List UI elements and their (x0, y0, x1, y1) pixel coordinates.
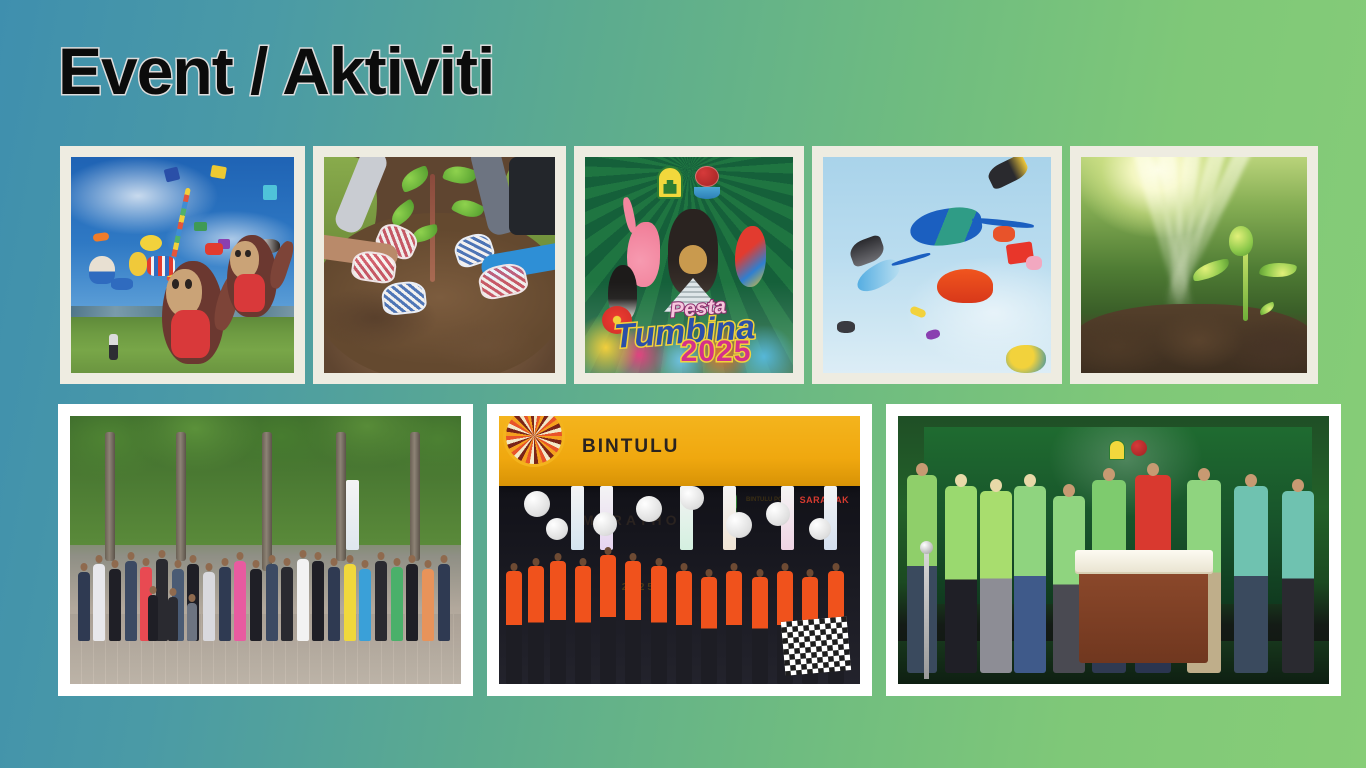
balloon (766, 502, 790, 526)
squirrel-mascot-back (227, 235, 277, 317)
seedling-leaf-right (1259, 259, 1297, 281)
runner (676, 571, 692, 684)
dragon-kite-large (907, 204, 983, 250)
person (93, 564, 105, 641)
person (312, 561, 324, 641)
crowd-group (70, 513, 461, 642)
dinosaur-kite (937, 269, 993, 303)
box-kite-5 (194, 222, 207, 231)
kite-festival-photo[interactable] (60, 146, 305, 384)
person (375, 561, 387, 641)
box-kite-4 (93, 232, 110, 242)
yellow-figure-kite (129, 252, 147, 276)
small-dark-kite (837, 321, 855, 333)
person (187, 603, 197, 642)
runner (701, 577, 717, 684)
runner (506, 571, 522, 684)
kite-festival-image (71, 157, 294, 373)
yellow-ring-kite (1006, 345, 1046, 373)
park-crowd-photo[interactable] (58, 404, 473, 696)
person (328, 567, 340, 642)
box-kite-2 (211, 164, 228, 178)
tree-planting-image (324, 157, 555, 373)
toucan-kite-top (985, 157, 1031, 191)
backdrop-logos (1109, 440, 1147, 460)
runner (528, 566, 544, 684)
person (250, 569, 262, 641)
smiley-kite (140, 235, 162, 251)
runner (550, 561, 566, 684)
person (109, 569, 121, 641)
person (168, 597, 178, 641)
person (281, 567, 293, 642)
person (359, 569, 371, 641)
person (297, 559, 309, 641)
box-kite-1 (163, 166, 180, 182)
cake-cutting-photo[interactable] (886, 404, 1341, 696)
person (1014, 486, 1046, 674)
yellow-tube-kite (909, 305, 927, 318)
person (219, 567, 231, 642)
striped-kite (147, 256, 175, 276)
sarawak-globe-icon (1131, 440, 1147, 456)
slide-root: Event / Aktiviti (0, 0, 1366, 768)
person (1234, 486, 1268, 674)
side-banner-6 (824, 486, 837, 550)
seedling-image (1081, 157, 1307, 373)
gallery-bottom-row: BINTULU MARATHON 2025 BINTULU PORT SARAW… (58, 404, 1342, 696)
person (344, 564, 356, 641)
balloon (524, 491, 550, 517)
person (234, 561, 246, 641)
balloon (546, 518, 568, 540)
box-kite-7 (205, 243, 223, 255)
page-title: Event / Aktiviti (58, 36, 494, 107)
balloon (680, 486, 704, 510)
checkered-flag (781, 617, 851, 677)
dragon-kites-image (823, 157, 1051, 373)
squirrel-mascot-front (162, 261, 224, 365)
seedling-photo[interactable] (1070, 146, 1318, 384)
stanchion-post (924, 550, 929, 679)
person (945, 486, 977, 674)
person (78, 572, 90, 641)
person (907, 475, 937, 673)
runner (625, 561, 641, 684)
bintulu-marathon-photo[interactable]: BINTULU MARATHON 2025 BINTULU PORT SARAW… (487, 404, 872, 696)
person-walking (109, 334, 118, 360)
person (125, 561, 137, 641)
ceremonial-cake (1075, 550, 1213, 574)
cake-table (1079, 561, 1208, 663)
sarawak-globe-logo (693, 166, 721, 200)
gallery-top-row: Pesta Tumbina 2025 (60, 146, 1340, 384)
person (422, 569, 434, 641)
pesta-tumbina-poster[interactable]: Pesta Tumbina 2025 (574, 146, 804, 384)
seedling-stem (1243, 248, 1248, 321)
bintulu-council-logo (657, 166, 683, 199)
person (391, 567, 403, 642)
council-crest-icon (1109, 440, 1125, 460)
poster-year: 2025 (681, 335, 752, 369)
tree-planting-photo[interactable] (313, 146, 566, 384)
runner (651, 566, 667, 684)
person (266, 564, 278, 641)
marathon-title: BINTULU (582, 437, 679, 456)
runner (575, 566, 591, 684)
seedling-leaf-top (1229, 226, 1253, 256)
person (438, 564, 450, 641)
soil-mound (1081, 304, 1307, 373)
person (1282, 491, 1314, 673)
box-kite-3 (263, 185, 277, 200)
side-banner-1 (571, 486, 584, 550)
macaw-graphic (735, 226, 766, 286)
poster-logos (657, 166, 721, 200)
blue-kite-low (111, 278, 133, 290)
runner (726, 571, 742, 684)
glove-blue-left (380, 280, 427, 316)
pesta-tumbina-image: Pesta Tumbina 2025 (585, 157, 793, 373)
park-crowd-image (70, 416, 461, 684)
sapling-leaf-1 (398, 165, 433, 193)
bintulu-marathon-image: BINTULU MARATHON 2025 BINTULU PORT SARAW… (499, 416, 860, 684)
bag-dark (509, 157, 555, 235)
runner (600, 555, 616, 684)
orange-fish-kite (993, 226, 1015, 242)
cake-cutting-image (898, 416, 1329, 684)
dragon-kites-photo[interactable] (812, 146, 1062, 384)
purple-kite (925, 328, 941, 340)
balloon (593, 512, 617, 536)
person (203, 572, 215, 641)
pink-kite (1026, 256, 1042, 270)
runner (752, 577, 768, 684)
person (980, 491, 1012, 673)
person (406, 564, 418, 641)
balloon (726, 512, 752, 538)
person (148, 595, 158, 641)
